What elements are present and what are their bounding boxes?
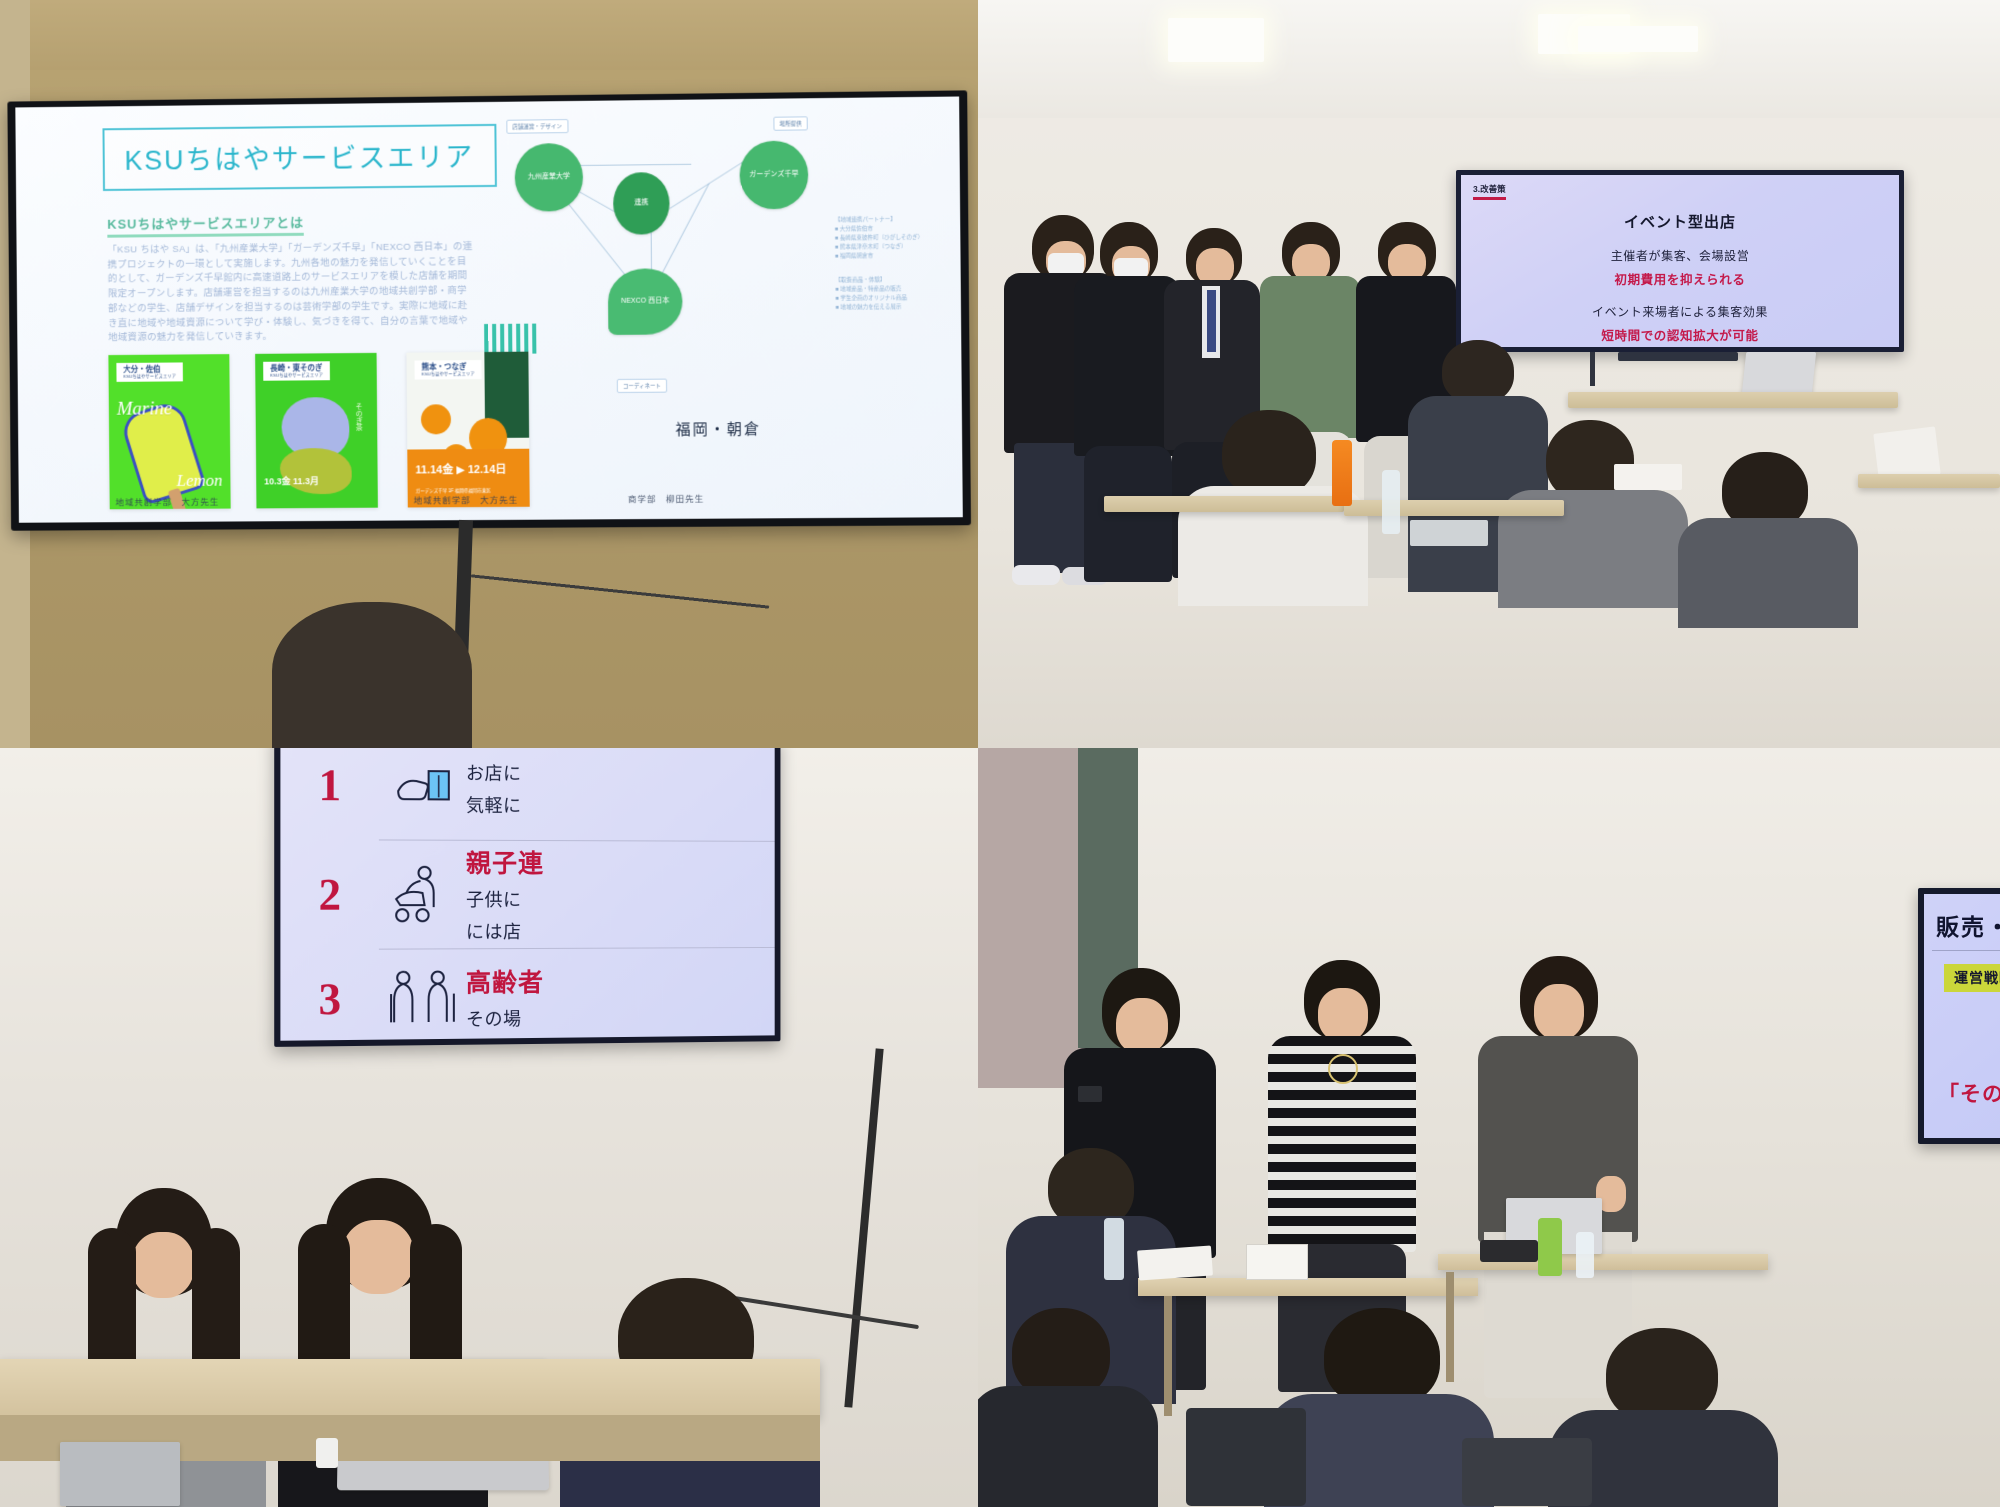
- torso: [978, 1386, 1158, 1507]
- orange-fruit-icon: [421, 404, 451, 434]
- slide-heading: イベント型出店: [1461, 211, 1899, 232]
- slide-section-tag: 3.改善策: [1473, 183, 1506, 200]
- presentation-screen-bottom-left: 1 お店に 気軽に 2: [274, 748, 780, 1047]
- slide-line-1: 主催者が集客、会場設営: [1461, 247, 1899, 264]
- dark-object-on-desk: [1480, 1240, 1538, 1262]
- slide-line-3: イベント来場者による集客効果: [1461, 303, 1899, 320]
- diagram-tag-1: 場所提供: [773, 116, 807, 130]
- segment-row-3: 3 高齢者 その場: [280, 955, 774, 1041]
- photo-collage: KSUちはやサービスエリア KSUちはやサービスエリアとは 「KSU ちはや S…: [0, 0, 2000, 1507]
- heading-divider: [1932, 950, 2000, 951]
- head: [1442, 340, 1514, 404]
- slide-sales-operation: 販売・運 運営戦略 「そのま: [1924, 894, 2000, 1138]
- name-card: [1246, 1244, 1308, 1280]
- slide-target-segments: 1 お店に 気軽に 2: [280, 748, 774, 1041]
- poster-kumamoto-tsunagi: 熊本・つなぎ KSUちはやサービスエリア 11.14金 ▶ 12.14日 ガーデ…: [406, 352, 529, 508]
- poster-region-tag: 熊本・つなぎ KSUちはやサービスエリア: [415, 360, 482, 380]
- panel-bottom-left: 1 お店に 気軽に 2: [0, 748, 978, 1507]
- stroller-parent-icon: [379, 865, 466, 924]
- note-line: ■ 福岡県朝倉市: [835, 252, 956, 262]
- presentation-screen-bottom-right: 販売・運 運営戦略 「そのま: [1918, 888, 2000, 1144]
- poster-sub: KSUちはやサービスエリア: [270, 372, 323, 377]
- ksu-logo-mark: [484, 324, 540, 354]
- poster-word-top: Marine: [117, 398, 173, 420]
- row-text: 親子連 子供に には店: [466, 844, 775, 944]
- necklace-icon: [1328, 1054, 1358, 1084]
- panel-top-right: 3.改善策 イベント型出店 主催者が集客、会場設営 初期費用を抑えられる イベン…: [978, 0, 2000, 748]
- row-title: 高齢者: [466, 962, 775, 1000]
- row-text: お店に 気軽に: [466, 753, 775, 819]
- diagram-node-1: 連携: [613, 172, 670, 235]
- seated-person-d: [1678, 452, 1858, 612]
- row-bullet: には店: [466, 917, 775, 944]
- floor-cable: [471, 574, 770, 608]
- poster-region-tag: 大分・佐伯 KSUちはやサービスエリア: [116, 362, 183, 381]
- slide-line-2-emphasis: 初期費用を抑えられる: [1461, 269, 1899, 288]
- conference-desk: [0, 1359, 820, 1417]
- slide-heading: 販売・運: [1936, 908, 2000, 942]
- poster-dates: 10.3金 11.3月: [264, 476, 319, 488]
- necktie: [1207, 290, 1216, 352]
- orange-drink-bottle: [1332, 440, 1352, 506]
- ceiling-light: [1578, 26, 1698, 52]
- strategy-badge: 運営戦略: [1944, 964, 2000, 992]
- viewer-head-silhouette: [272, 602, 472, 748]
- poster-oita-saiki: 大分・佐伯 KSUちはやサービスエリア Marine Lemon: [108, 354, 230, 509]
- slide-subtitle: KSUちはやサービスエリアとは: [107, 212, 304, 238]
- row-title: 親子連: [466, 844, 775, 880]
- slide-credit-2: 地域共創学部 大方先生: [414, 494, 519, 507]
- screen-mount-pole: [1590, 352, 1595, 386]
- poster-region: 長崎・東そのぎ: [270, 363, 322, 372]
- slide-quote: 「そのま: [1938, 1078, 2000, 1108]
- row-bullet: 気軽に: [466, 792, 775, 820]
- audience-desk-1: [1104, 496, 1344, 512]
- slide-notes-1: 【地域連携パートナー】 ■ 大分県佐伯市 ■ 長崎県東彼杵町（ひがしそのぎ） ■…: [835, 215, 957, 262]
- diagram-node-label: 連携: [634, 199, 648, 209]
- second-laptop: [60, 1442, 180, 1506]
- row-bullet: 子供に: [466, 886, 775, 912]
- panel-bottom-right: 販売・運 運営戦略 「そのま: [978, 748, 2000, 1507]
- front-desk: [1568, 392, 1898, 408]
- diagram-tag-2: コーディネート: [617, 379, 667, 393]
- chest-pocket: [1078, 1086, 1102, 1102]
- audience-desk-2: [1344, 500, 1564, 516]
- wall-upper: [0, 0, 978, 70]
- face: [1116, 998, 1168, 1054]
- slide-credit-1: 地域共創学部 大方先生: [116, 496, 220, 509]
- paper-sheet: [1137, 1245, 1213, 1280]
- legs: [1084, 446, 1172, 582]
- poster-sub: KSUちはやサービスエリア: [123, 373, 176, 378]
- poster-sub: KSUちはやサービスエリア: [422, 371, 475, 376]
- note-line: ■ 地域の魅力を伝える展示: [836, 303, 957, 313]
- diagram-node-label: NEXCO 西日本: [621, 297, 669, 307]
- slide-ksu-chihaya: KSUちはやサービスエリア KSUちはやサービスエリアとは 「KSU ちはや S…: [15, 96, 962, 522]
- laptop-on-desk: [1742, 352, 1816, 394]
- panel-top-left: KSUちはやサービスエリア KSUちはやサービスエリアとは 「KSU ちはや S…: [0, 0, 978, 748]
- row-number: 3: [280, 972, 378, 1025]
- audience-desk-3: [1858, 474, 2000, 488]
- segment-row-2: 2 親子連 子供に には店: [280, 847, 774, 941]
- poster-nagasaki-sonogi: 長崎・東そのぎ KSUちはやサービスエリア そのぎ茶 10.3金 11.3月: [255, 353, 378, 509]
- slide-title: KSUちはやサービスエリア: [102, 124, 496, 191]
- face-mask: [1114, 258, 1148, 278]
- diagram-tag-0: 店舗運営・デザイン: [506, 119, 568, 134]
- ceiling-light: [1168, 18, 1264, 62]
- head: [1324, 1308, 1440, 1408]
- row-bullet: お店に: [466, 759, 775, 787]
- green-bottle: [1538, 1218, 1562, 1276]
- slide-credit-3: 商学部 柳田先生: [628, 493, 704, 505]
- seated-audience-2: [978, 1308, 1158, 1507]
- tv-screen: KSUちはやサービスエリア KSUちはやサービスエリアとは 「KSU ちはや S…: [15, 96, 962, 522]
- water-bottle: [1382, 470, 1400, 534]
- face: [132, 1232, 194, 1298]
- diagram-node-0: 九州産業大学: [515, 143, 584, 212]
- face: [1318, 988, 1368, 1042]
- ceiling: [978, 0, 2000, 118]
- stationery-item: [316, 1438, 338, 1468]
- shoe: [1012, 565, 1060, 585]
- screen-stand-pole: [844, 1048, 883, 1407]
- diagram-node-3: NEXCO 西日本: [608, 268, 683, 335]
- screen-mount-bar: [1618, 352, 1738, 361]
- paper-sheet: [1614, 464, 1682, 490]
- face: [342, 1220, 414, 1294]
- desk-leg: [1446, 1272, 1454, 1382]
- slide-improvement-plan: 3.改善策 イベント型出店 主催者が集客、会場設営 初期費用を抑えられる イベン…: [1461, 175, 1899, 347]
- partner-diagram: 店舗運営・デザイン 場所提供 コーディネート 九州産業大学: [502, 116, 816, 400]
- row-number: 2: [280, 868, 378, 920]
- clear-bottle: [1576, 1232, 1594, 1278]
- segment-row-1: 1 お店に 気軽に: [280, 748, 774, 833]
- diagram-node-2: ガーデンズ千早: [739, 140, 808, 209]
- row-number: 1: [280, 758, 378, 810]
- row-text: 高齢者 その場: [466, 962, 775, 1032]
- elderly-people-icon: [379, 969, 466, 1026]
- poster-region-tag: 長崎・東そのぎ KSUちはやサービスエリア: [263, 361, 330, 381]
- face: [1534, 984, 1584, 1040]
- diagram-node-label: ガーデンズ千早: [749, 170, 798, 180]
- poster-dates: 11.14金 ▶ 12.14日: [415, 461, 506, 478]
- presentation-screen-top-right: 3.改善策 イベント型出店 主催者が集客、会場設営 初期費用を抑えられる イベン…: [1456, 170, 1904, 352]
- chair-back: [1186, 1408, 1306, 1506]
- water-bottle: [1104, 1218, 1124, 1280]
- row-bullet: その場: [466, 1003, 775, 1032]
- slide-notes-2: 【取扱商品・体験】 ■ 地域産品・特産品の販売 ■ 学生企画のオリジナル商品 ■…: [835, 276, 957, 314]
- audience-desk-front: [1138, 1278, 1478, 1296]
- poster-vertical-text: そのぎ茶: [353, 403, 363, 431]
- device-on-desk: [1410, 520, 1488, 546]
- hand-shop-icon: [379, 763, 466, 808]
- wall-tv-top-left: KSUちはやサービスエリア KSUちはやサービスエリアとは 「KSU ちはや S…: [7, 90, 971, 530]
- diagram-node-label: 九州産業大学: [528, 172, 570, 182]
- slide-body-text: 「KSU ちはや SA」は、「九州産業大学」「ガーデンズ千早」「NEXCO 西日…: [107, 240, 476, 346]
- torso: [1678, 518, 1858, 628]
- desk-leg: [1164, 1296, 1172, 1416]
- poster-word-bottom: Lemon: [176, 471, 222, 491]
- chair-back: [1462, 1438, 1592, 1506]
- poster-region: 熊本・つなぎ: [422, 362, 467, 371]
- poster-region: 大分・佐伯: [123, 365, 160, 374]
- head: [1222, 410, 1316, 498]
- fukuoka-asakura-label: 福岡・朝倉: [675, 418, 761, 440]
